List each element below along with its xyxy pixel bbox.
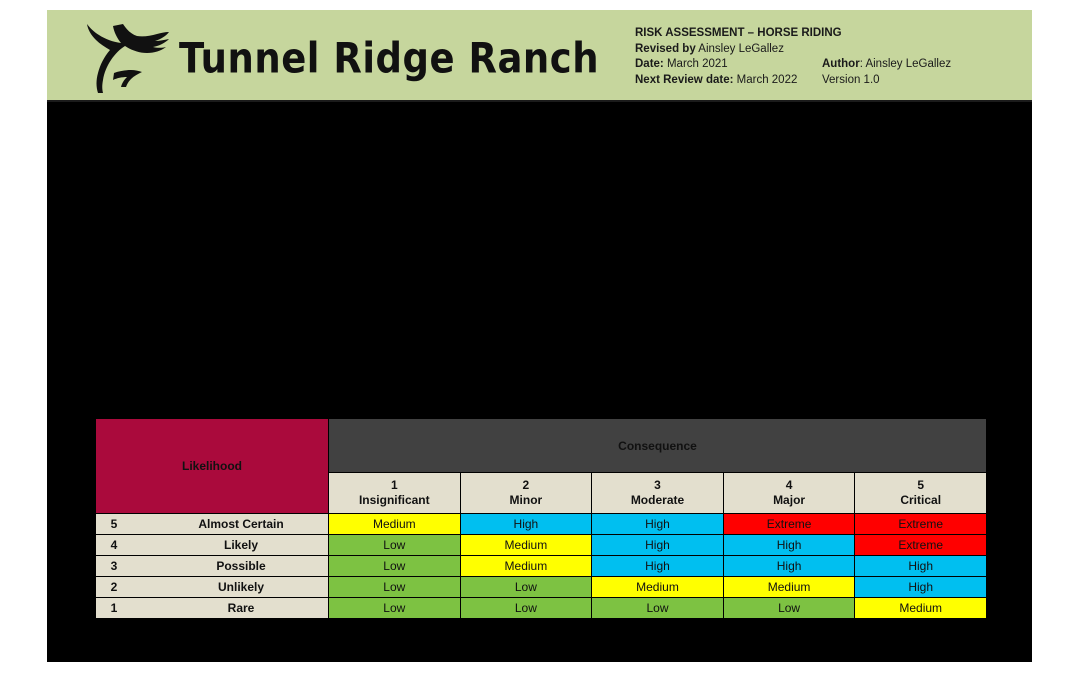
author-field: Author: Ainsley LeGallez — [822, 57, 1020, 73]
horse-head-icon — [65, 16, 185, 100]
revised-by-line: Revised by Ainsley LeGallez — [635, 42, 1020, 58]
risk-cell: Extreme — [723, 514, 855, 535]
risk-cell: Low — [460, 598, 592, 619]
likelihood-row-2: 2 Unlikely — [96, 577, 329, 598]
risk-cell: Medium — [855, 598, 987, 619]
slide-canvas: Tunnel Ridge Ranch RISK ASSESSMENT – HOR… — [47, 10, 1032, 662]
risk-cell: Medium — [329, 514, 461, 535]
consequence-level-3: 3 Moderate — [592, 473, 724, 514]
brand-logo: Tunnel Ridge Ranch — [65, 14, 495, 102]
likelihood-header-cell: Likelihood — [96, 419, 329, 514]
risk-cell: High — [460, 514, 592, 535]
risk-cell: Low — [592, 598, 724, 619]
consequence-level-4: 4 Major — [723, 473, 855, 514]
next-review-field: Next Review date: March 2022 — [635, 73, 822, 89]
risk-cell: High — [855, 556, 987, 577]
risk-matrix-body: Likelihood Consequence 1 Insignificant 2… — [96, 419, 987, 619]
likelihood-row-3: 3 Possible — [96, 556, 329, 577]
consequence-header-cell: Consequence — [329, 419, 987, 473]
risk-cell: Extreme — [855, 514, 987, 535]
matrix-header-row: Likelihood Consequence — [96, 419, 987, 473]
risk-cell: Low — [329, 598, 461, 619]
likelihood-row-4: 4 Likely — [96, 535, 329, 556]
table-row: 2 Unlikely Low Low Medium Medium High — [96, 577, 987, 598]
table-row: 5 Almost Certain Medium High High Extrem… — [96, 514, 987, 535]
date-label: Date: — [635, 58, 664, 70]
next-review-label: Next Review date: — [635, 74, 733, 86]
risk-cell: High — [723, 535, 855, 556]
author-label: Author — [822, 58, 860, 70]
risk-cell: High — [592, 556, 724, 577]
table-row: 1 Rare Low Low Low Low Medium — [96, 598, 987, 619]
date-author-line: Date: March 2021 Author: Ainsley LeGalle… — [635, 57, 1020, 73]
table-row: 3 Possible Low Medium High High High — [96, 556, 987, 577]
consequence-level-2: 2 Minor — [460, 473, 592, 514]
risk-cell: Medium — [460, 556, 592, 577]
risk-cell: Extreme — [855, 535, 987, 556]
document-header-band: Tunnel Ridge Ranch RISK ASSESSMENT – HOR… — [47, 10, 1032, 102]
date-value: March 2021 — [667, 58, 728, 70]
document-metadata: RISK ASSESSMENT – HORSE RIDING Revised b… — [635, 26, 1020, 88]
consequence-level-5: 5 Critical — [855, 473, 987, 514]
risk-cell: High — [723, 556, 855, 577]
brand-name: Tunnel Ridge Ranch — [179, 34, 599, 82]
risk-cell: High — [855, 577, 987, 598]
revised-by-value: Ainsley LeGallez — [698, 43, 784, 55]
risk-cell: Low — [329, 556, 461, 577]
likelihood-row-5: 5 Almost Certain — [96, 514, 329, 535]
author-value: : Ainsley LeGallez — [860, 58, 951, 70]
document-title: RISK ASSESSMENT – HORSE RIDING — [635, 26, 1020, 42]
likelihood-row-1: 1 Rare — [96, 598, 329, 619]
risk-cell: Low — [329, 577, 461, 598]
revised-by-label: Revised by — [635, 43, 696, 55]
table-row: 4 Likely Low Medium High High Extreme — [96, 535, 987, 556]
risk-cell: Medium — [723, 577, 855, 598]
review-version-line: Next Review date: March 2022 Version 1.0 — [635, 73, 1020, 89]
version-field: Version 1.0 — [822, 73, 1020, 89]
risk-cell: Low — [329, 535, 461, 556]
slide-page: Tunnel Ridge Ranch RISK ASSESSMENT – HOR… — [0, 0, 1080, 675]
date-field: Date: March 2021 — [635, 57, 822, 73]
risk-cell: Low — [723, 598, 855, 619]
risk-cell: Low — [460, 577, 592, 598]
risk-cell: Medium — [592, 577, 724, 598]
risk-cell: High — [592, 535, 724, 556]
consequence-level-1: 1 Insignificant — [329, 473, 461, 514]
next-review-value: March 2022 — [737, 74, 798, 86]
risk-matrix-table: Likelihood Consequence 1 Insignificant 2… — [95, 418, 987, 619]
version-value: Version 1.0 — [822, 74, 880, 86]
risk-cell: Medium — [460, 535, 592, 556]
risk-cell: High — [592, 514, 724, 535]
